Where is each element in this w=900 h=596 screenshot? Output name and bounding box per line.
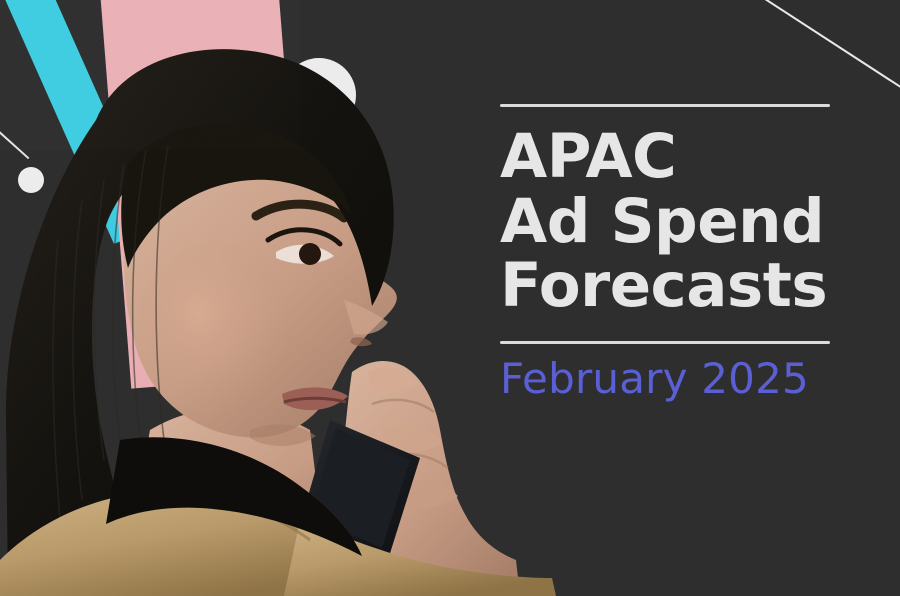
subtitle-date: February 2025 (500, 356, 840, 402)
divider-top (500, 104, 830, 107)
divider-bottom (500, 341, 830, 344)
title-line-1: APAC (500, 125, 840, 190)
top-right-diagonal-line (761, 0, 900, 107)
title-block: APAC Ad Spend Forecasts February 2025 (500, 104, 840, 402)
page-title: APAC Ad Spend Forecasts (500, 125, 840, 319)
poster-canvas: APAC Ad Spend Forecasts February 2025 (0, 0, 900, 596)
title-line-3: Forecasts (500, 254, 840, 319)
title-line-2: Ad Spend (500, 190, 840, 255)
